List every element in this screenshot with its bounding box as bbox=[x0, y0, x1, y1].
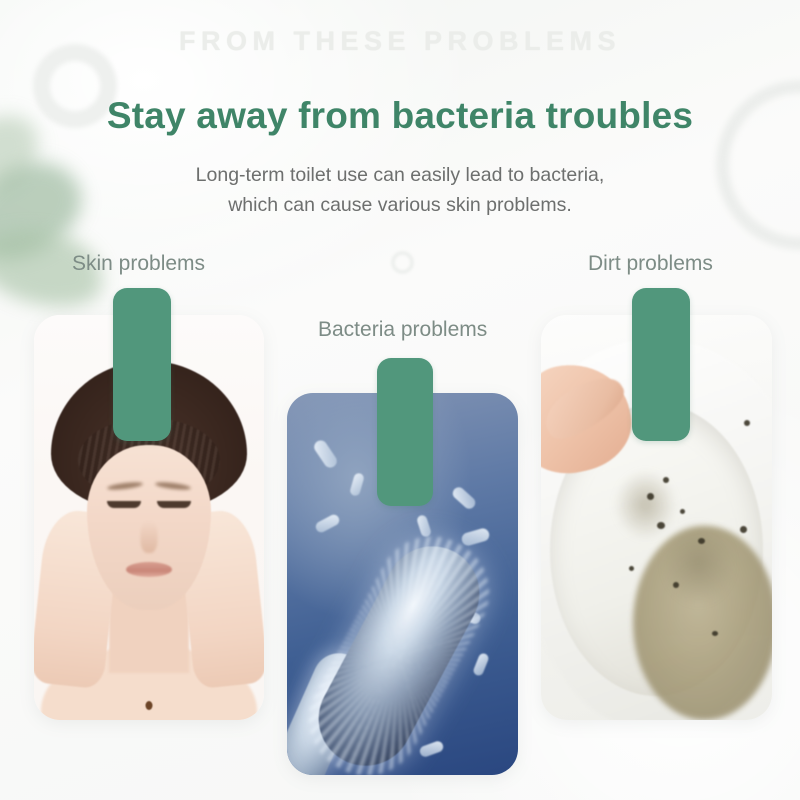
eyebrow-right bbox=[155, 481, 191, 491]
mole-mark bbox=[146, 701, 153, 710]
label-bacteria-problems: Bacteria problems bbox=[318, 318, 487, 342]
subtitle-line-1: Long-term toilet use can easily lead to … bbox=[0, 160, 800, 190]
dirt-spot bbox=[673, 582, 679, 588]
bacillus-small bbox=[450, 485, 477, 511]
dirt-spot bbox=[740, 526, 747, 533]
bacillus-small bbox=[416, 514, 432, 538]
bacillus-small bbox=[349, 472, 365, 497]
subtitle-line-2: which can cause various skin problems. bbox=[0, 190, 800, 220]
bacillus-small bbox=[314, 513, 341, 534]
ring-decoration-center bbox=[391, 251, 414, 274]
bacillus-small bbox=[312, 438, 340, 470]
page-subtitle: Long-term toilet use can easily lead to … bbox=[0, 160, 800, 220]
eyebrow-left bbox=[107, 481, 143, 491]
eye-right bbox=[157, 501, 191, 508]
pill-marker-skin bbox=[113, 288, 171, 441]
bacillus-small bbox=[418, 740, 444, 759]
bacterium-primary bbox=[302, 530, 496, 775]
mouth-shape bbox=[126, 562, 172, 577]
dirt-spot bbox=[657, 522, 665, 529]
label-dirt-problems: Dirt problems bbox=[588, 252, 713, 276]
pill-marker-bacteria bbox=[377, 358, 433, 506]
page-headline: Stay away from bacteria troubles bbox=[0, 95, 800, 137]
nose-shape bbox=[141, 521, 158, 553]
bacillus-small bbox=[472, 652, 490, 677]
bacillus-small bbox=[461, 527, 491, 547]
dirt-spot bbox=[629, 566, 634, 571]
label-skin-problems: Skin problems bbox=[72, 252, 205, 276]
dirt-spot bbox=[698, 538, 705, 544]
eye-left bbox=[107, 501, 141, 508]
pill-marker-dirt bbox=[632, 288, 690, 441]
grime-shading bbox=[601, 437, 749, 664]
dirt-spot bbox=[712, 631, 718, 636]
watermark-text: FROM THESE PROBLEMS bbox=[0, 26, 800, 57]
